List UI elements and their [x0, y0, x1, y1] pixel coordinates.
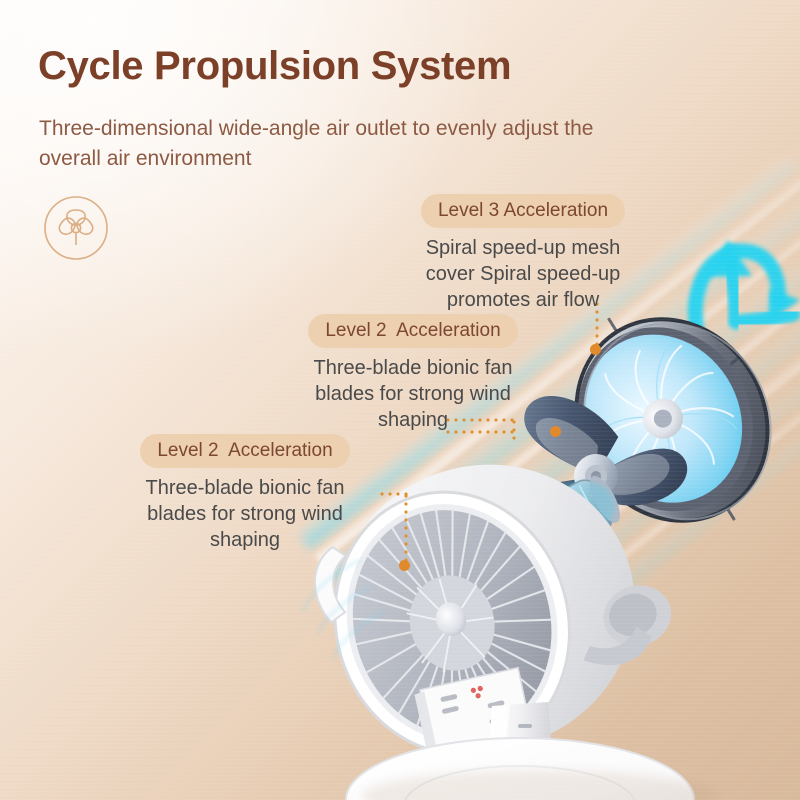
airflow-arrows	[695, 251, 793, 345]
fan-icon	[40, 192, 112, 264]
callout-level-2-upper: Level 2 Acceleration Three-blade bionic …	[286, 314, 540, 433]
airflow-arrowheads	[706, 240, 800, 322]
poster-canvas: Cycle Propulsion System Three-dimensiona…	[0, 0, 800, 800]
callout-pill-level-2-upper[interactable]: Level 2 Acceleration	[308, 314, 517, 348]
callout-description-level-2-lower: Three-blade bionic fan blades for strong…	[118, 475, 372, 553]
neck-column	[486, 702, 556, 800]
callout-level-2-lower: Level 2 Acceleration Three-blade bionic …	[118, 434, 372, 553]
callout-pill-level-3[interactable]: Level 3 Acceleration	[421, 194, 625, 228]
callout-description-level-2-upper: Three-blade bionic fan blades for strong…	[286, 355, 540, 433]
control-panel	[413, 667, 534, 758]
page-title: Cycle Propulsion System	[38, 44, 511, 89]
callout-description-level-3: Spiral speed-up mesh cover Spiral speed-…	[392, 235, 654, 313]
round-base	[346, 738, 694, 800]
spiral-mesh-cover	[530, 268, 800, 568]
callout-pill-level-2-lower[interactable]: Level 2 Acceleration	[140, 434, 349, 468]
power-indicator	[470, 686, 484, 700]
front-air-hint	[302, 560, 384, 658]
callout-level-3: Level 3 Acceleration Spiral speed-up mes…	[392, 194, 654, 313]
motor-hub	[503, 465, 629, 575]
control-buttons	[440, 688, 507, 730]
page-subtitle: Three-dimensional wide-angle air outlet …	[39, 114, 659, 174]
